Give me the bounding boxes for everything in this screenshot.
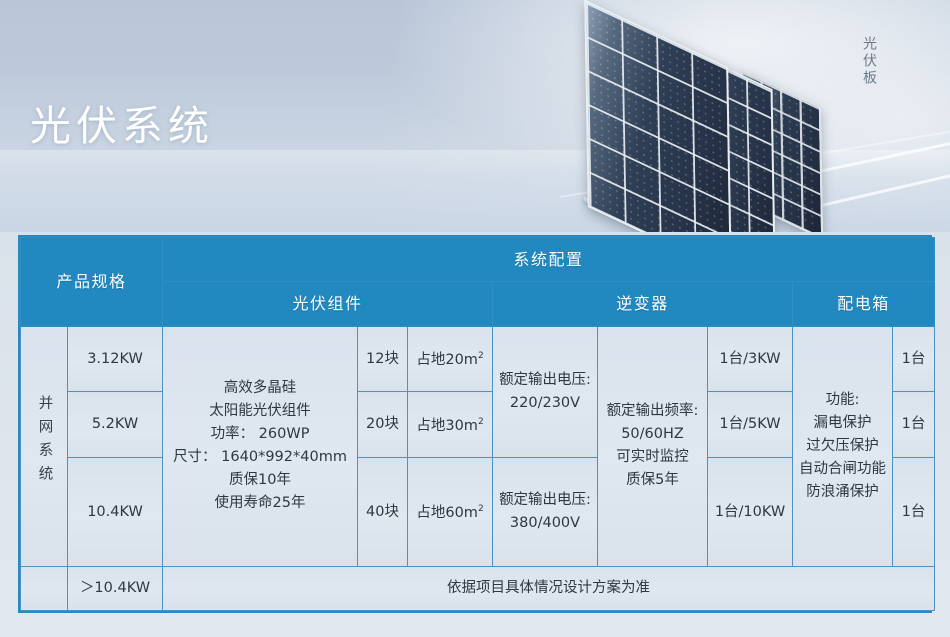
box-functions-cell: 功能: 漏电保护 过欠压保护 自动合闸功能 防浪涌保护 — [793, 326, 893, 566]
frequency-line: 可实时监控 — [599, 446, 706, 469]
frequency-line: 50/60HZ — [599, 423, 706, 446]
header-inverter: 逆变器 — [493, 282, 793, 326]
area-value: 占地60m — [416, 505, 478, 521]
slide-page: 光伏系统 光伏板 产品规格 系统配置 — [0, 0, 950, 637]
area-value: 占地20m — [416, 352, 478, 368]
module-desc-line: 太阳能光伏组件 — [164, 400, 356, 423]
header-distribution-box: 配电箱 — [793, 282, 935, 326]
box-quantity-cell: 1台 — [893, 326, 935, 392]
module-area-cell: 占地60m2 — [408, 458, 493, 566]
function-line: 过欠压保护 — [794, 435, 891, 458]
voltage-value: 220/230V — [494, 392, 596, 415]
voltage-label: 额定输出电压: — [494, 489, 596, 512]
hero-banner: 光伏系统 光伏板 — [0, 0, 950, 232]
module-quantity-cell: 40块 — [358, 458, 408, 566]
voltage-label: 额定输出电压: — [494, 369, 596, 392]
system-type-label: 并网系统 — [33, 395, 56, 489]
module-quantity-cell: 12块 — [358, 326, 408, 392]
page-title: 光伏系统 — [30, 92, 214, 152]
power-cell: ＞10.4KW — [68, 566, 163, 610]
function-line: 功能: — [794, 389, 891, 412]
table-row-note: ＞10.4KW 依据项目具体情况设计方案为准 — [21, 566, 935, 610]
inverter-quantity-cell: 1台/3KW — [708, 326, 793, 392]
frequency-line: 额定输出频率: — [599, 400, 706, 423]
module-desc-line: 使用寿命25年 — [164, 492, 356, 515]
panel-caption-label: 光伏板 — [858, 36, 880, 87]
custom-design-note: 依据项目具体情况设计方案为准 — [163, 566, 935, 610]
module-desc-line: 高效多晶硅 — [164, 377, 356, 400]
module-desc-line: 尺寸： 1640*992*40mm — [164, 446, 356, 469]
output-voltage-cell-a: 额定输出电压: 220/230V — [493, 326, 598, 458]
module-description-cell: 高效多晶硅 太阳能光伏组件 功率： 260WP 尺寸： 1640*992*40m… — [163, 326, 358, 566]
voltage-value: 380/400V — [494, 512, 596, 535]
solar-panel-front — [584, 0, 732, 232]
module-desc-line: 功率： 260WP — [164, 423, 356, 446]
inverter-quantity-cell: 1台/10KW — [708, 458, 793, 566]
header-product-spec: 产品规格 — [21, 238, 163, 327]
spec-table-container: 产品规格 系统配置 光伏组件 逆变器 配电箱 并网系统 3.12KW 高效多晶硅… — [18, 235, 932, 613]
system-type-cell-empty — [21, 566, 68, 610]
area-unit-exponent: 2 — [478, 352, 484, 362]
output-frequency-cell: 额定输出频率: 50/60HZ 可实时监控 质保5年 — [598, 326, 708, 566]
header-pv-module: 光伏组件 — [163, 282, 493, 326]
area-unit-exponent: 2 — [478, 418, 484, 428]
power-cell: 5.2KW — [68, 392, 163, 458]
power-cell: 3.12KW — [68, 326, 163, 392]
system-type-cell: 并网系统 — [21, 326, 68, 566]
frequency-line: 质保5年 — [599, 469, 706, 492]
table-header-row-1: 产品规格 系统配置 — [21, 238, 935, 282]
power-cell: 10.4KW — [68, 458, 163, 566]
inverter-quantity-cell: 1台/5KW — [708, 392, 793, 458]
module-desc-line: 质保10年 — [164, 469, 356, 492]
module-area-cell: 占地20m2 — [408, 326, 493, 392]
area-unit-exponent: 2 — [478, 505, 484, 515]
output-voltage-cell-b: 额定输出电压: 380/400V — [493, 458, 598, 566]
solar-panel-illustration — [590, 18, 890, 223]
area-value: 占地30m — [416, 418, 478, 434]
table-row: 并网系统 3.12KW 高效多晶硅 太阳能光伏组件 功率： 260WP 尺寸： … — [21, 326, 935, 392]
spec-table: 产品规格 系统配置 光伏组件 逆变器 配电箱 并网系统 3.12KW 高效多晶硅… — [20, 237, 935, 611]
function-line: 防浪涌保护 — [794, 481, 891, 504]
header-system-config: 系统配置 — [163, 238, 935, 282]
module-quantity-cell: 20块 — [358, 392, 408, 458]
box-quantity-cell: 1台 — [893, 392, 935, 458]
panel-grid-cols — [586, 2, 730, 232]
function-line: 漏电保护 — [794, 412, 891, 435]
function-line: 自动合闸功能 — [794, 458, 891, 481]
box-quantity-cell: 1台 — [893, 458, 935, 566]
module-area-cell: 占地30m2 — [408, 392, 493, 458]
